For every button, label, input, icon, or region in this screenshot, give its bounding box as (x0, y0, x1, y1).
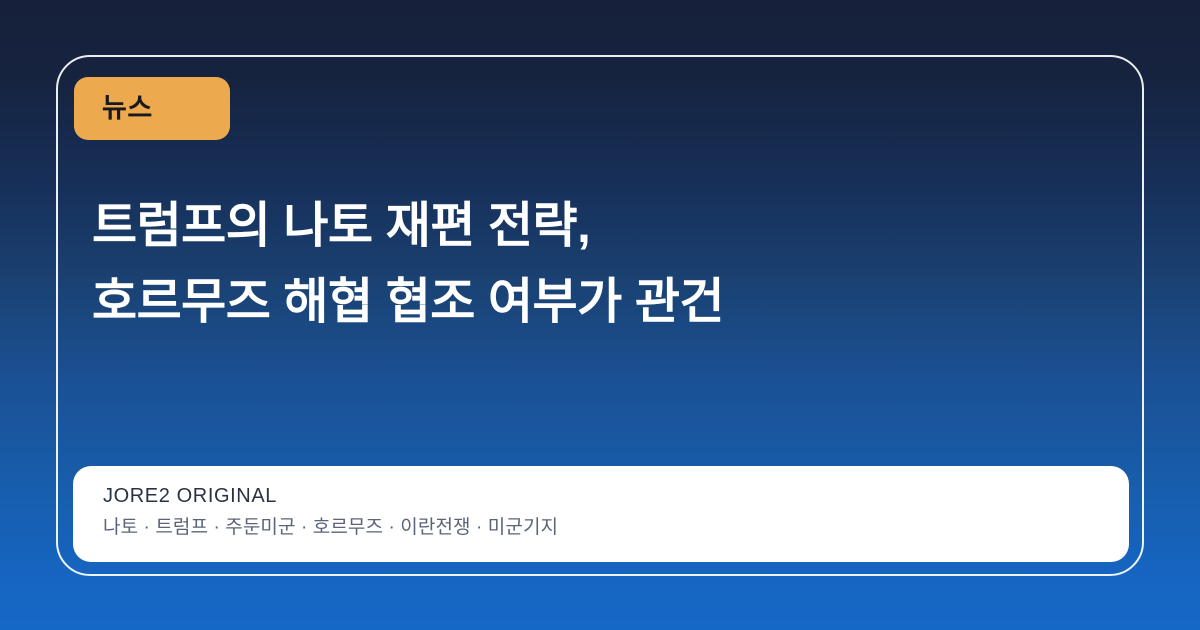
category-badge[interactable]: 뉴스 (74, 77, 230, 140)
article-card: 뉴스 트럼프의 나토 재편 전략, 호르무즈 해협 협조 여부가 관건 JORE… (56, 55, 1144, 576)
tag-list: 나토 · 트럼프 · 주둔미군 · 호르무즈 · 이란전쟁 · 미군기지 (103, 512, 1099, 544)
news-card-canvas: 뉴스 트럼프의 나토 재편 전략, 호르무즈 해협 협조 여부가 관건 JORE… (0, 0, 1200, 630)
headline: 트럼프의 나토 재편 전략, 호르무즈 해협 협조 여부가 관건 (92, 188, 1102, 340)
headline-line-1: 트럼프의 나토 재편 전략, (92, 188, 1102, 264)
brand-label: JORE2 ORIGINAL (103, 483, 1099, 509)
category-badge-label: 뉴스 (102, 95, 153, 122)
headline-line-2: 호르무즈 해협 협조 여부가 관건 (92, 264, 1102, 340)
footer-panel: JORE2 ORIGINAL 나토 · 트럼프 · 주둔미군 · 호르무즈 · … (73, 466, 1129, 562)
